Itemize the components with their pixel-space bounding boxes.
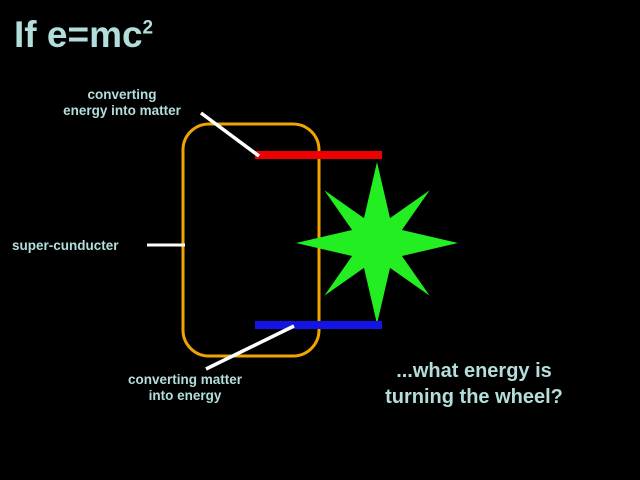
- leader-line-top: [201, 113, 259, 156]
- leader-line-bottom: [206, 326, 294, 369]
- label-superconductor: super-cunducter: [12, 238, 119, 254]
- page-title-base: If e=mc: [14, 14, 143, 55]
- energy-to-matter-bar: [255, 151, 382, 159]
- page-title: If e=mc2: [14, 14, 153, 57]
- page-title-exponent: 2: [143, 18, 154, 39]
- matter-to-energy-bar: [255, 321, 382, 329]
- slide-canvas: If e=mc2 converting energy into matter s…: [0, 0, 640, 480]
- label-converting-matter-into-energy: converting matter into energy: [95, 372, 275, 404]
- label-converting-energy-into-matter: converting energy into matter: [33, 87, 211, 119]
- question-text: ...what energy is turning the wheel?: [338, 358, 610, 410]
